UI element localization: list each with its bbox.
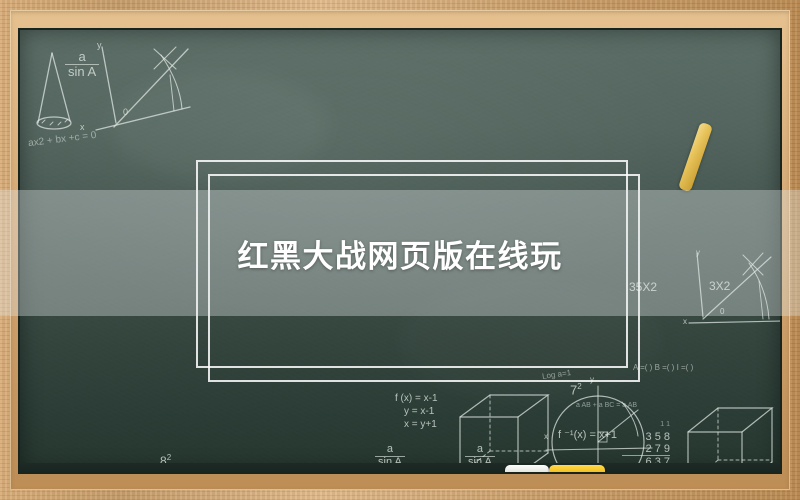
axis-x-label: x — [80, 122, 85, 132]
seven-base: 7 — [570, 382, 577, 397]
white-chalk-icon — [505, 465, 549, 472]
yellow-chalk-ledge-icon — [549, 465, 605, 472]
fraction-numerator: a — [375, 444, 405, 457]
cube-drawing — [450, 385, 580, 472]
addition-problem: 1 1 3 5 8 2 7 9 6 3 7 — [622, 419, 670, 468]
yellow-chalk-icon — [678, 122, 713, 192]
function-x-equation: x = y+1 — [404, 419, 437, 430]
circle-sector-diagram — [540, 380, 670, 472]
function-y-equation: y = x-1 — [404, 406, 434, 417]
eight-exponent: 2 — [167, 453, 171, 462]
page-title: 红黑大战网页版在线玩 — [0, 190, 800, 316]
fraction-a-over-sinA: a sin A — [65, 50, 99, 78]
axis-y-label: y — [97, 40, 102, 50]
seven-squared: 72 — [570, 382, 582, 397]
carry-digits: 1 1 — [622, 419, 670, 431]
seven-exponent: 2 — [577, 382, 581, 391]
addend-bottom: 2 7 9 — [622, 443, 670, 455]
vector-identity: a AB + a BC = a AB — [576, 402, 637, 409]
angle-label: 0 — [123, 107, 128, 117]
addend-top: 3 5 8 — [622, 431, 670, 443]
cube-drawing — [680, 398, 780, 472]
cone-and-axes-drawing — [30, 35, 240, 165]
board-lower-shelf — [20, 463, 780, 472]
axis-x-label: x — [683, 317, 687, 326]
fraction-denominator: sin A — [65, 65, 99, 79]
function-fx: f (x) = x-1 — [395, 393, 438, 404]
matrix-definitions: A =( ) B =( ) I =( ) — [633, 363, 693, 372]
inverse-function: f ⁻¹(x) = x+1 — [558, 428, 617, 441]
fraction-numerator: a — [65, 50, 99, 65]
quadratic-equation: ax2 + bx +c = 0 — [28, 130, 98, 149]
fraction-numerator: a — [465, 444, 495, 457]
chalkboard-banner: y x 0 a sin A ax2 + bx +c = 0 y x 0 f (x… — [0, 0, 800, 500]
axis-x-label: x — [544, 432, 548, 441]
